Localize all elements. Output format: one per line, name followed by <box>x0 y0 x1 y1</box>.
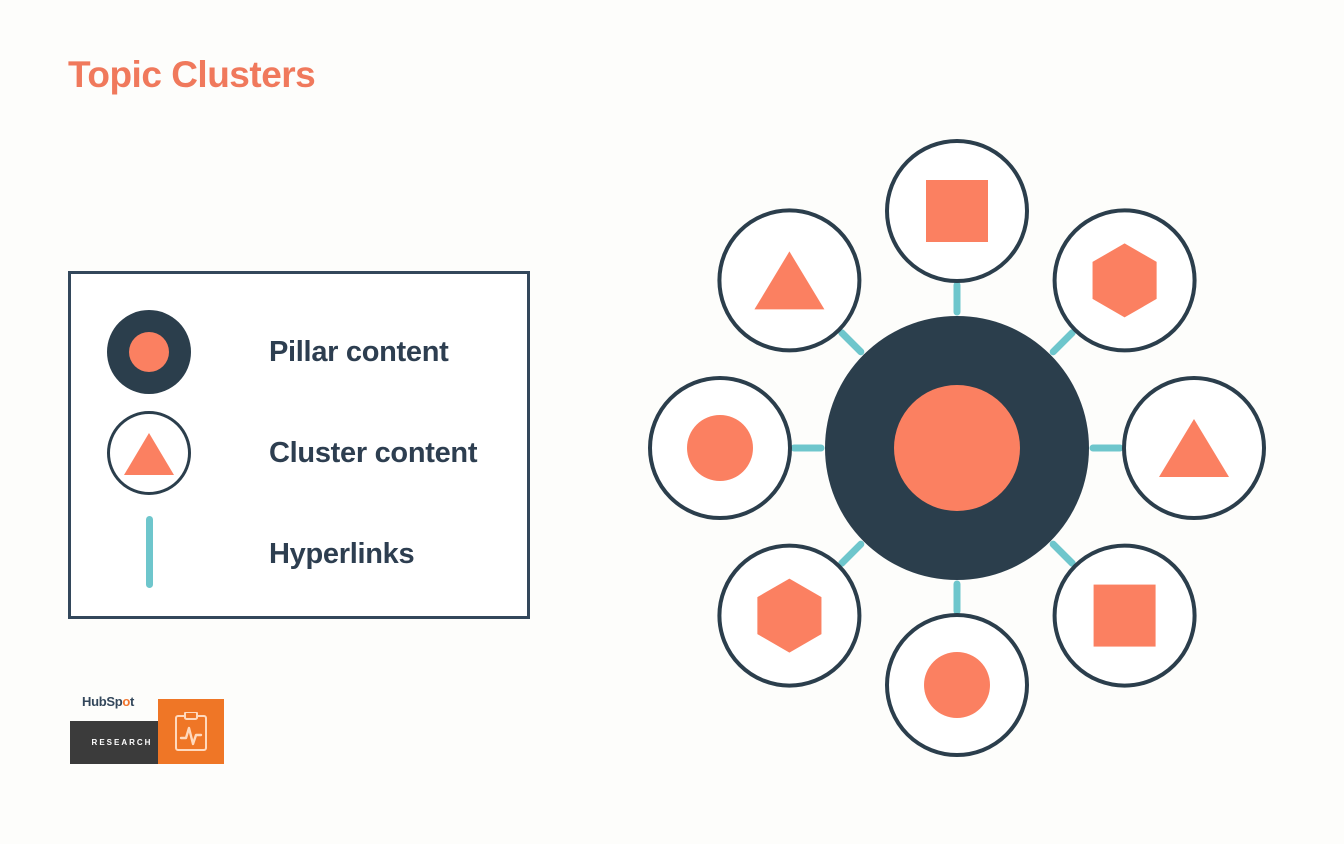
hubspot-research-logo: HubSpot RESEARCH <box>70 694 230 766</box>
circle-icon <box>687 415 753 481</box>
cluster-content-marker <box>107 411 191 495</box>
hyperlink-connector-bottom-left <box>842 544 861 563</box>
outlined-circle-icon <box>107 411 191 495</box>
page-title: Topic Clusters <box>68 55 315 96</box>
legend-label-pillar-content: Pillar content <box>269 336 449 369</box>
hyperlink-connector-top-left <box>842 333 861 352</box>
vertical-line-icon <box>107 512 191 596</box>
filled-circle-icon <box>107 310 191 394</box>
wordmark-prefix: HubSp <box>82 694 122 709</box>
hyperlink-connector-top-right <box>1053 333 1072 352</box>
legend-item-hyperlinks: Hyperlinks <box>107 512 414 596</box>
square-icon <box>926 180 988 242</box>
triangle-icon <box>124 433 174 475</box>
cluster-node-top-right <box>1055 210 1195 350</box>
cluster-diagram-svg <box>620 110 1300 790</box>
inner-circle-icon <box>129 332 169 372</box>
pillar-content-marker <box>107 310 191 394</box>
legend-item-pillar-content: Pillar content <box>107 310 449 394</box>
wordmark-sprocket-icon: o <box>122 694 130 709</box>
circle-icon <box>924 652 990 718</box>
cluster-node-bottom-left <box>719 546 859 686</box>
legend-label-hyperlinks: Hyperlinks <box>269 538 414 571</box>
pillar-hub-inner-circle <box>894 385 1020 511</box>
logo-icon-tile <box>158 699 224 764</box>
hyperlink-connector-bottom-right <box>1053 544 1072 563</box>
hubspot-wordmark: HubSpot <box>82 694 134 709</box>
cluster-node-top-left <box>719 210 859 350</box>
cluster-node-left <box>650 378 790 518</box>
square-icon <box>1094 585 1156 647</box>
cluster-node-bottom-right <box>1055 546 1195 686</box>
cluster-node-right <box>1124 378 1264 518</box>
legend-panel: Pillar content Cluster content Hyperlink… <box>68 271 530 619</box>
clipboard-chart-icon <box>174 712 208 752</box>
cluster-node-top <box>887 141 1027 281</box>
pillar-content-hub <box>825 316 1089 580</box>
line-segment <box>146 516 153 588</box>
legend-label-cluster-content: Cluster content <box>269 437 477 470</box>
cluster-node-bottom <box>887 615 1027 755</box>
topic-cluster-diagram <box>620 110 1300 790</box>
wordmark-suffix: t <box>130 694 134 709</box>
legend-item-cluster-content: Cluster content <box>107 411 477 495</box>
hyperlinks-marker <box>107 512 191 596</box>
